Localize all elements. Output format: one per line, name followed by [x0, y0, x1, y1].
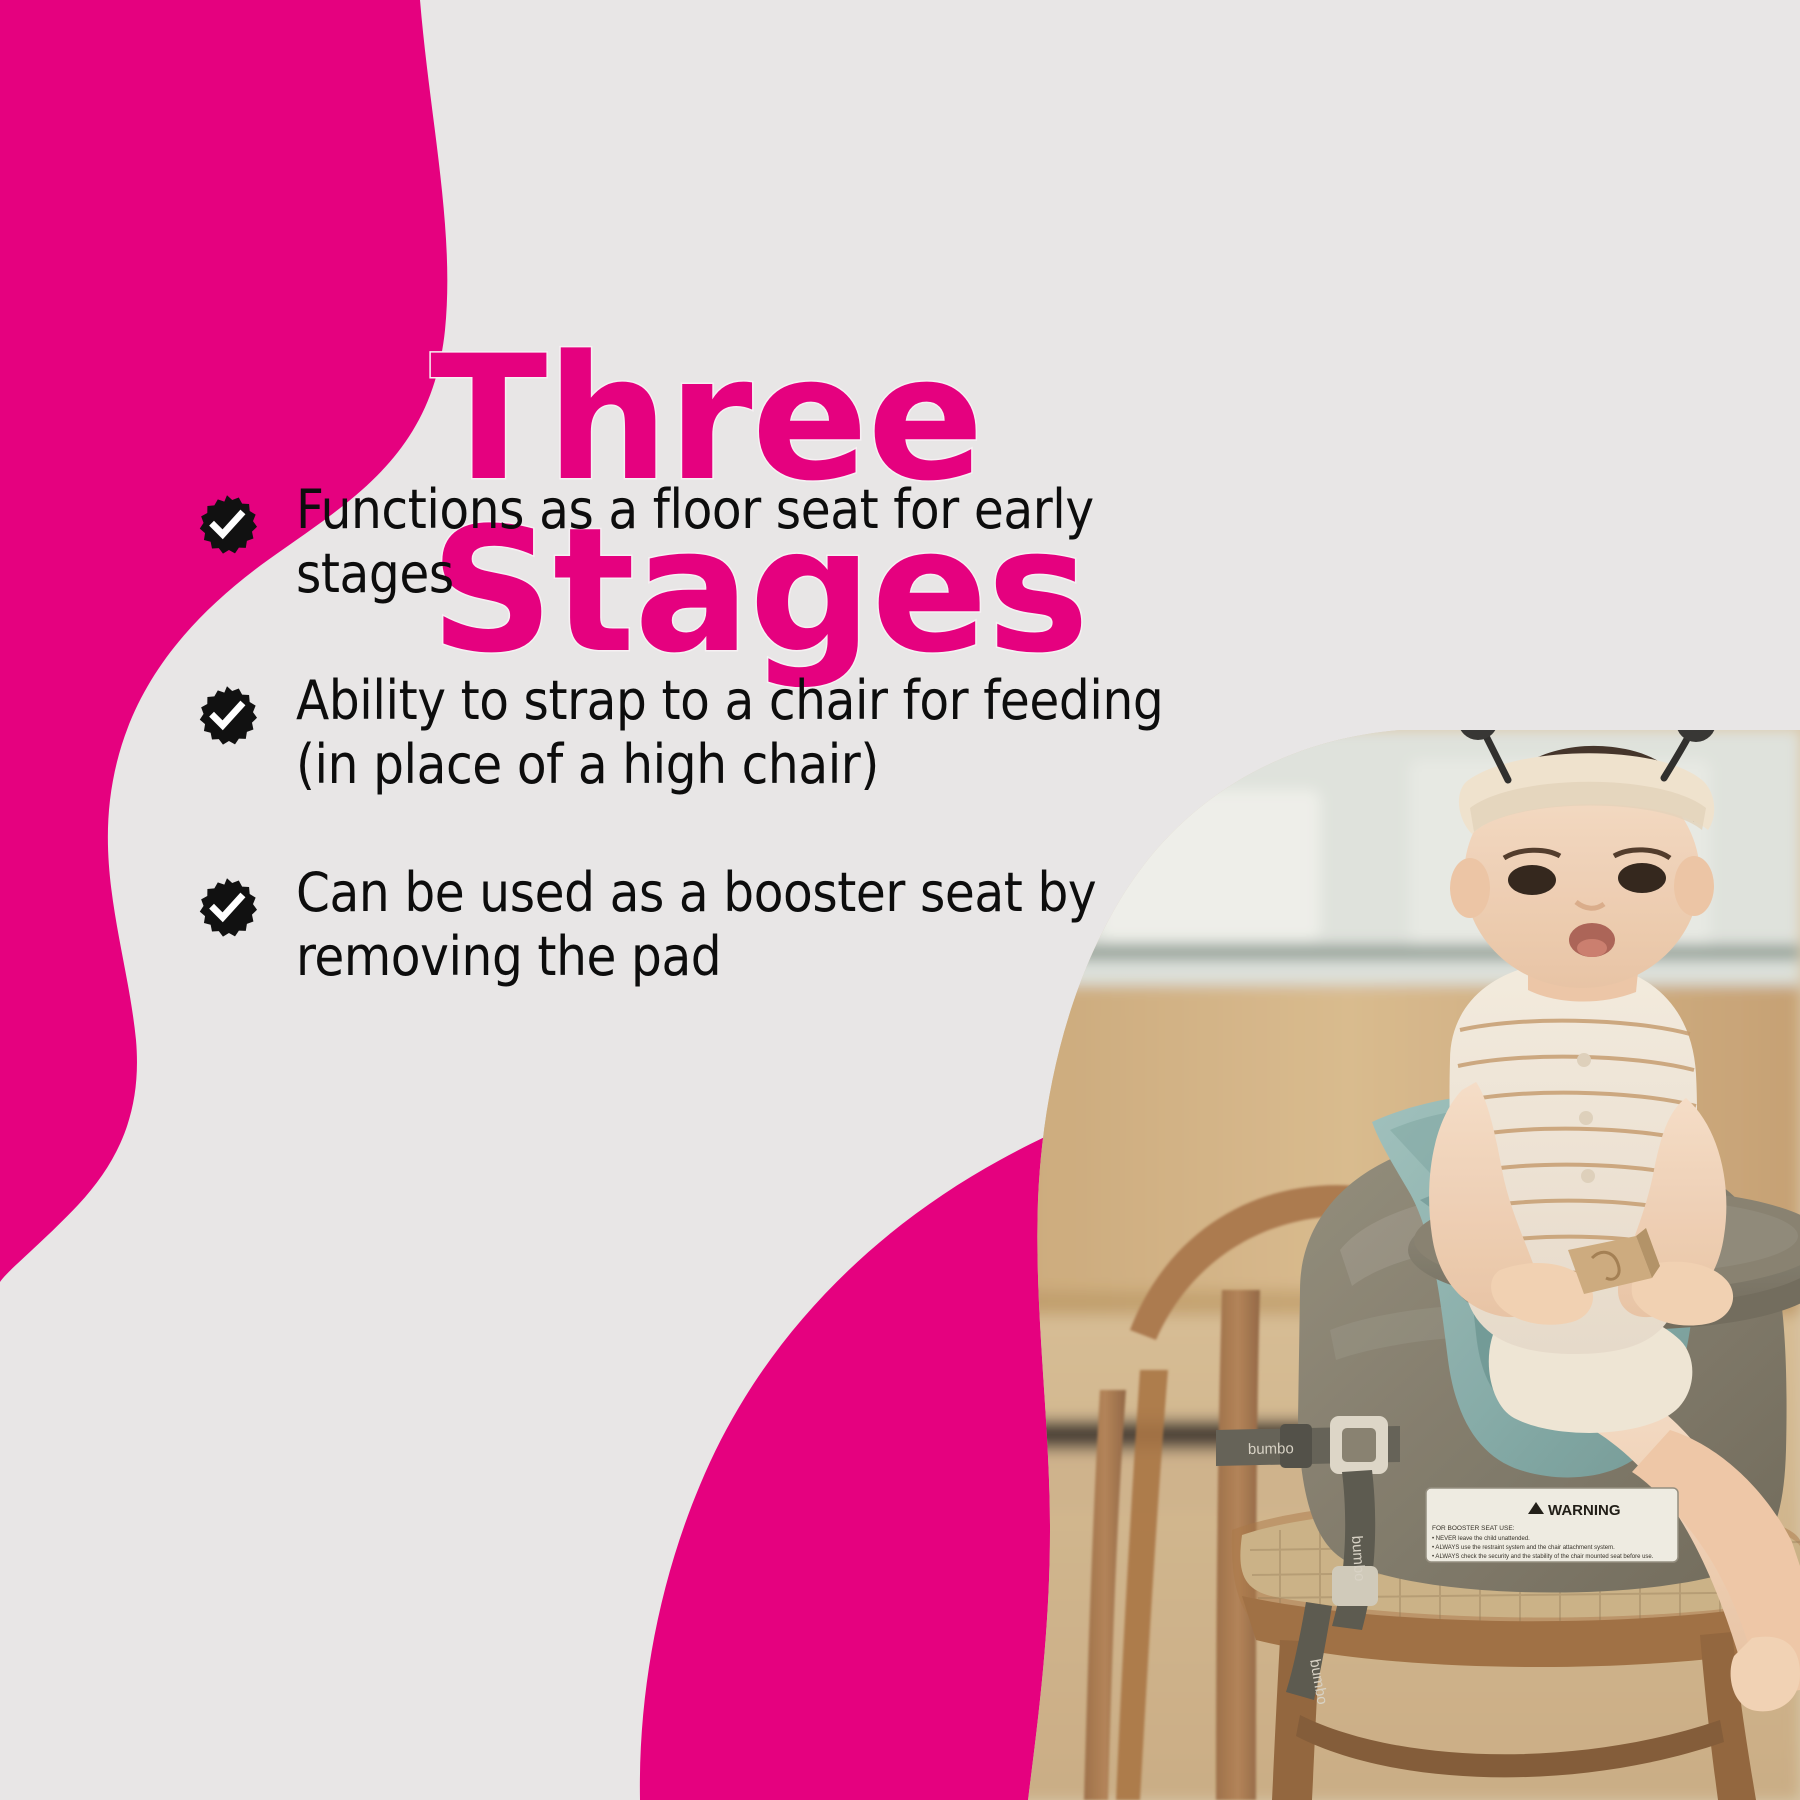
verified-check-badge-icon — [196, 494, 258, 556]
list-item-label: Ability to strap to a chair for feeding … — [296, 669, 1163, 796]
verified-check-badge-icon — [196, 877, 258, 939]
list-item: Can be used as a booster seat by removin… — [196, 861, 1206, 988]
list-item: Functions as a floor seat for early stag… — [196, 478, 1206, 605]
verified-check-badge-icon — [196, 685, 258, 747]
poster-canvas: bumbo bumbo bumbo WARNING FOR BOOSTER SE… — [0, 0, 1800, 1800]
list-item: Ability to strap to a chair for feeding … — [196, 669, 1206, 796]
feature-list: Functions as a floor seat for early stag… — [196, 478, 1206, 988]
list-item-label: Can be used as a booster seat by removin… — [296, 861, 1096, 988]
list-item-label: Functions as a floor seat for early stag… — [296, 478, 1206, 605]
